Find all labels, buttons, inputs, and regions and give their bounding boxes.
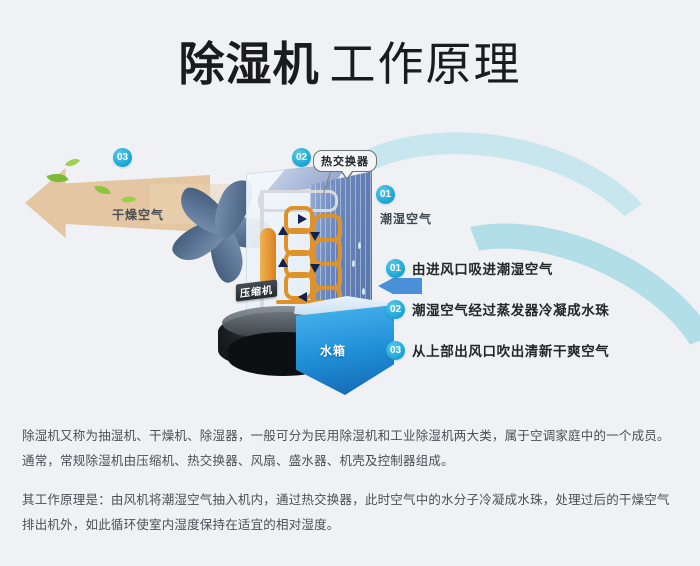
flow-arrow-icon <box>310 232 320 241</box>
body-paragraph-1: 除湿机又称为抽湿机、干燥机、除湿器，一般可分为民用除湿机和工业除湿机两大类，属于… <box>22 424 682 474</box>
leaf-icon <box>65 155 80 171</box>
legend-list: 01 由进风口吸进潮湿空气 02 潮湿空气经过蒸发器冷凝成水珠 03 从上部出风… <box>386 258 686 381</box>
heat-exchanger-callout: 热交换器 <box>313 150 377 172</box>
water-droplet-icon <box>358 242 361 249</box>
flow-arrow-icon <box>298 214 307 224</box>
body-paragraph-2: 其工作原理是：由风机将潮湿空气抽入机内，通过热交换器，此时空气中的水分子冷凝成水… <box>22 488 682 538</box>
water-tank-label: 水箱 <box>320 342 346 359</box>
flow-arrow-icon <box>310 264 320 273</box>
badge-01: 01 <box>376 185 395 204</box>
flow-arrow-icon <box>298 292 307 302</box>
page-title-primary: 除湿机 <box>179 37 320 91</box>
legend-item: 02 潮湿空气经过蒸发器冷凝成水珠 <box>386 299 686 319</box>
coil-accumulator <box>260 228 276 286</box>
legend-item: 01 由进风口吸进潮湿空气 <box>386 258 686 278</box>
body-copy: 除湿机又称为抽湿机、干燥机、除湿器，一般可分为民用除湿机和工业除湿机两大类，属于… <box>22 424 682 552</box>
legend-badge: 03 <box>386 341 405 360</box>
water-droplet-icon <box>352 260 355 267</box>
water-droplet-icon <box>362 288 365 295</box>
legend-badge: 01 <box>386 259 405 278</box>
flow-arrow-icon <box>278 226 288 235</box>
legend-item-label: 由进风口吸进潮湿空气 <box>412 258 553 278</box>
legend-item-label: 潮湿空气经过蒸发器冷凝成水珠 <box>412 299 609 319</box>
badge-02: 02 <box>292 148 311 167</box>
legend-badge: 02 <box>386 300 405 319</box>
page-title: 除湿机工作原理 <box>0 28 700 94</box>
dry-air-label: 干燥空气 <box>112 206 164 223</box>
legend-item: 03 从上部出风口吹出清新干爽空气 <box>386 340 686 360</box>
humid-air-label: 潮湿空气 <box>380 210 432 227</box>
legend-item-label: 从上部出风口吹出清新干爽空气 <box>412 340 609 360</box>
badge-03: 03 <box>113 148 132 167</box>
flow-arrow-icon <box>278 258 288 267</box>
page-title-secondary: 工作原理 <box>330 37 522 91</box>
infographic-page: 除湿机工作原理 <box>0 0 700 566</box>
